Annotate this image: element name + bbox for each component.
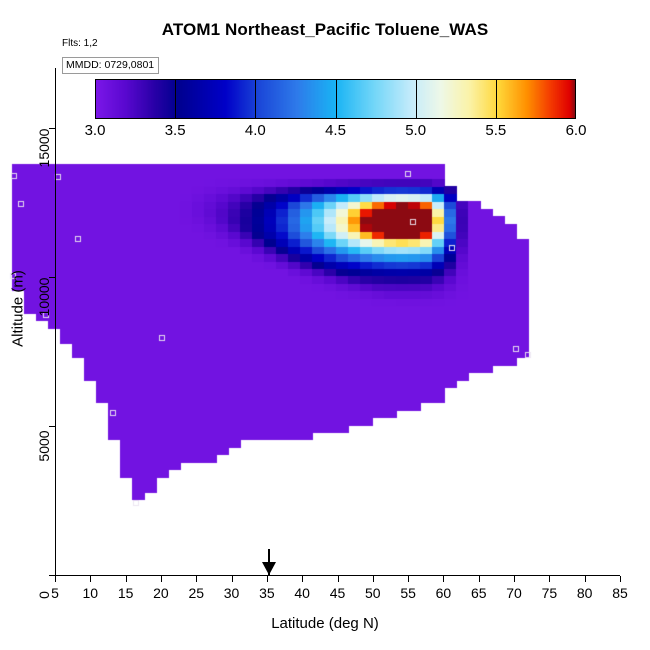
x-tick-label: 15	[106, 585, 146, 601]
x-tick	[196, 576, 197, 582]
x-tick-label: 25	[176, 585, 216, 601]
x-tick	[267, 576, 268, 582]
y-tick-label: 10000	[36, 275, 52, 319]
y-tick-label: 0	[36, 573, 52, 617]
y-axis-title: Altitude (m)	[10, 199, 27, 419]
heatmap-canvas	[0, 0, 565, 507]
x-tick-label: 55	[388, 585, 428, 601]
x-tick-label: 80	[565, 585, 605, 601]
x-tick	[232, 576, 233, 582]
x-tick-label: 40	[282, 585, 322, 601]
x-tick	[514, 576, 515, 582]
x-tick-label: 45	[318, 585, 358, 601]
x-tick	[55, 576, 56, 582]
chart-page: ATOM1 Northeast_Pacific Toluene_WAS Flts…	[0, 0, 650, 650]
x-tick	[620, 576, 621, 582]
y-tick-label: 15000	[36, 126, 52, 170]
x-tick	[549, 576, 550, 582]
x-tick	[126, 576, 127, 582]
x-tick-label: 10	[70, 585, 110, 601]
x-tick	[373, 576, 374, 582]
x-axis-title: Latitude (deg N)	[0, 615, 650, 632]
y-tick-label: 5000	[36, 424, 52, 468]
x-tick	[90, 576, 91, 582]
x-tick	[443, 576, 444, 582]
x-tick	[338, 576, 339, 582]
x-tick-label: 70	[494, 585, 534, 601]
x-tick-label: 50	[353, 585, 393, 601]
x-tick-label: 30	[212, 585, 252, 601]
x-tick-label: 20	[141, 585, 181, 601]
x-tick	[479, 576, 480, 582]
x-tick	[161, 576, 162, 582]
x-tick-label: 65	[459, 585, 499, 601]
x-tick-label: 35	[247, 585, 287, 601]
x-tick	[408, 576, 409, 582]
y-axis-line	[55, 68, 56, 575]
x-tick	[302, 576, 303, 582]
x-tick-label: 60	[423, 585, 463, 601]
latitude-marker-arrow-head	[262, 562, 276, 575]
x-tick-label: 85	[600, 585, 640, 601]
x-tick-label: 75	[529, 585, 569, 601]
x-tick	[585, 576, 586, 582]
